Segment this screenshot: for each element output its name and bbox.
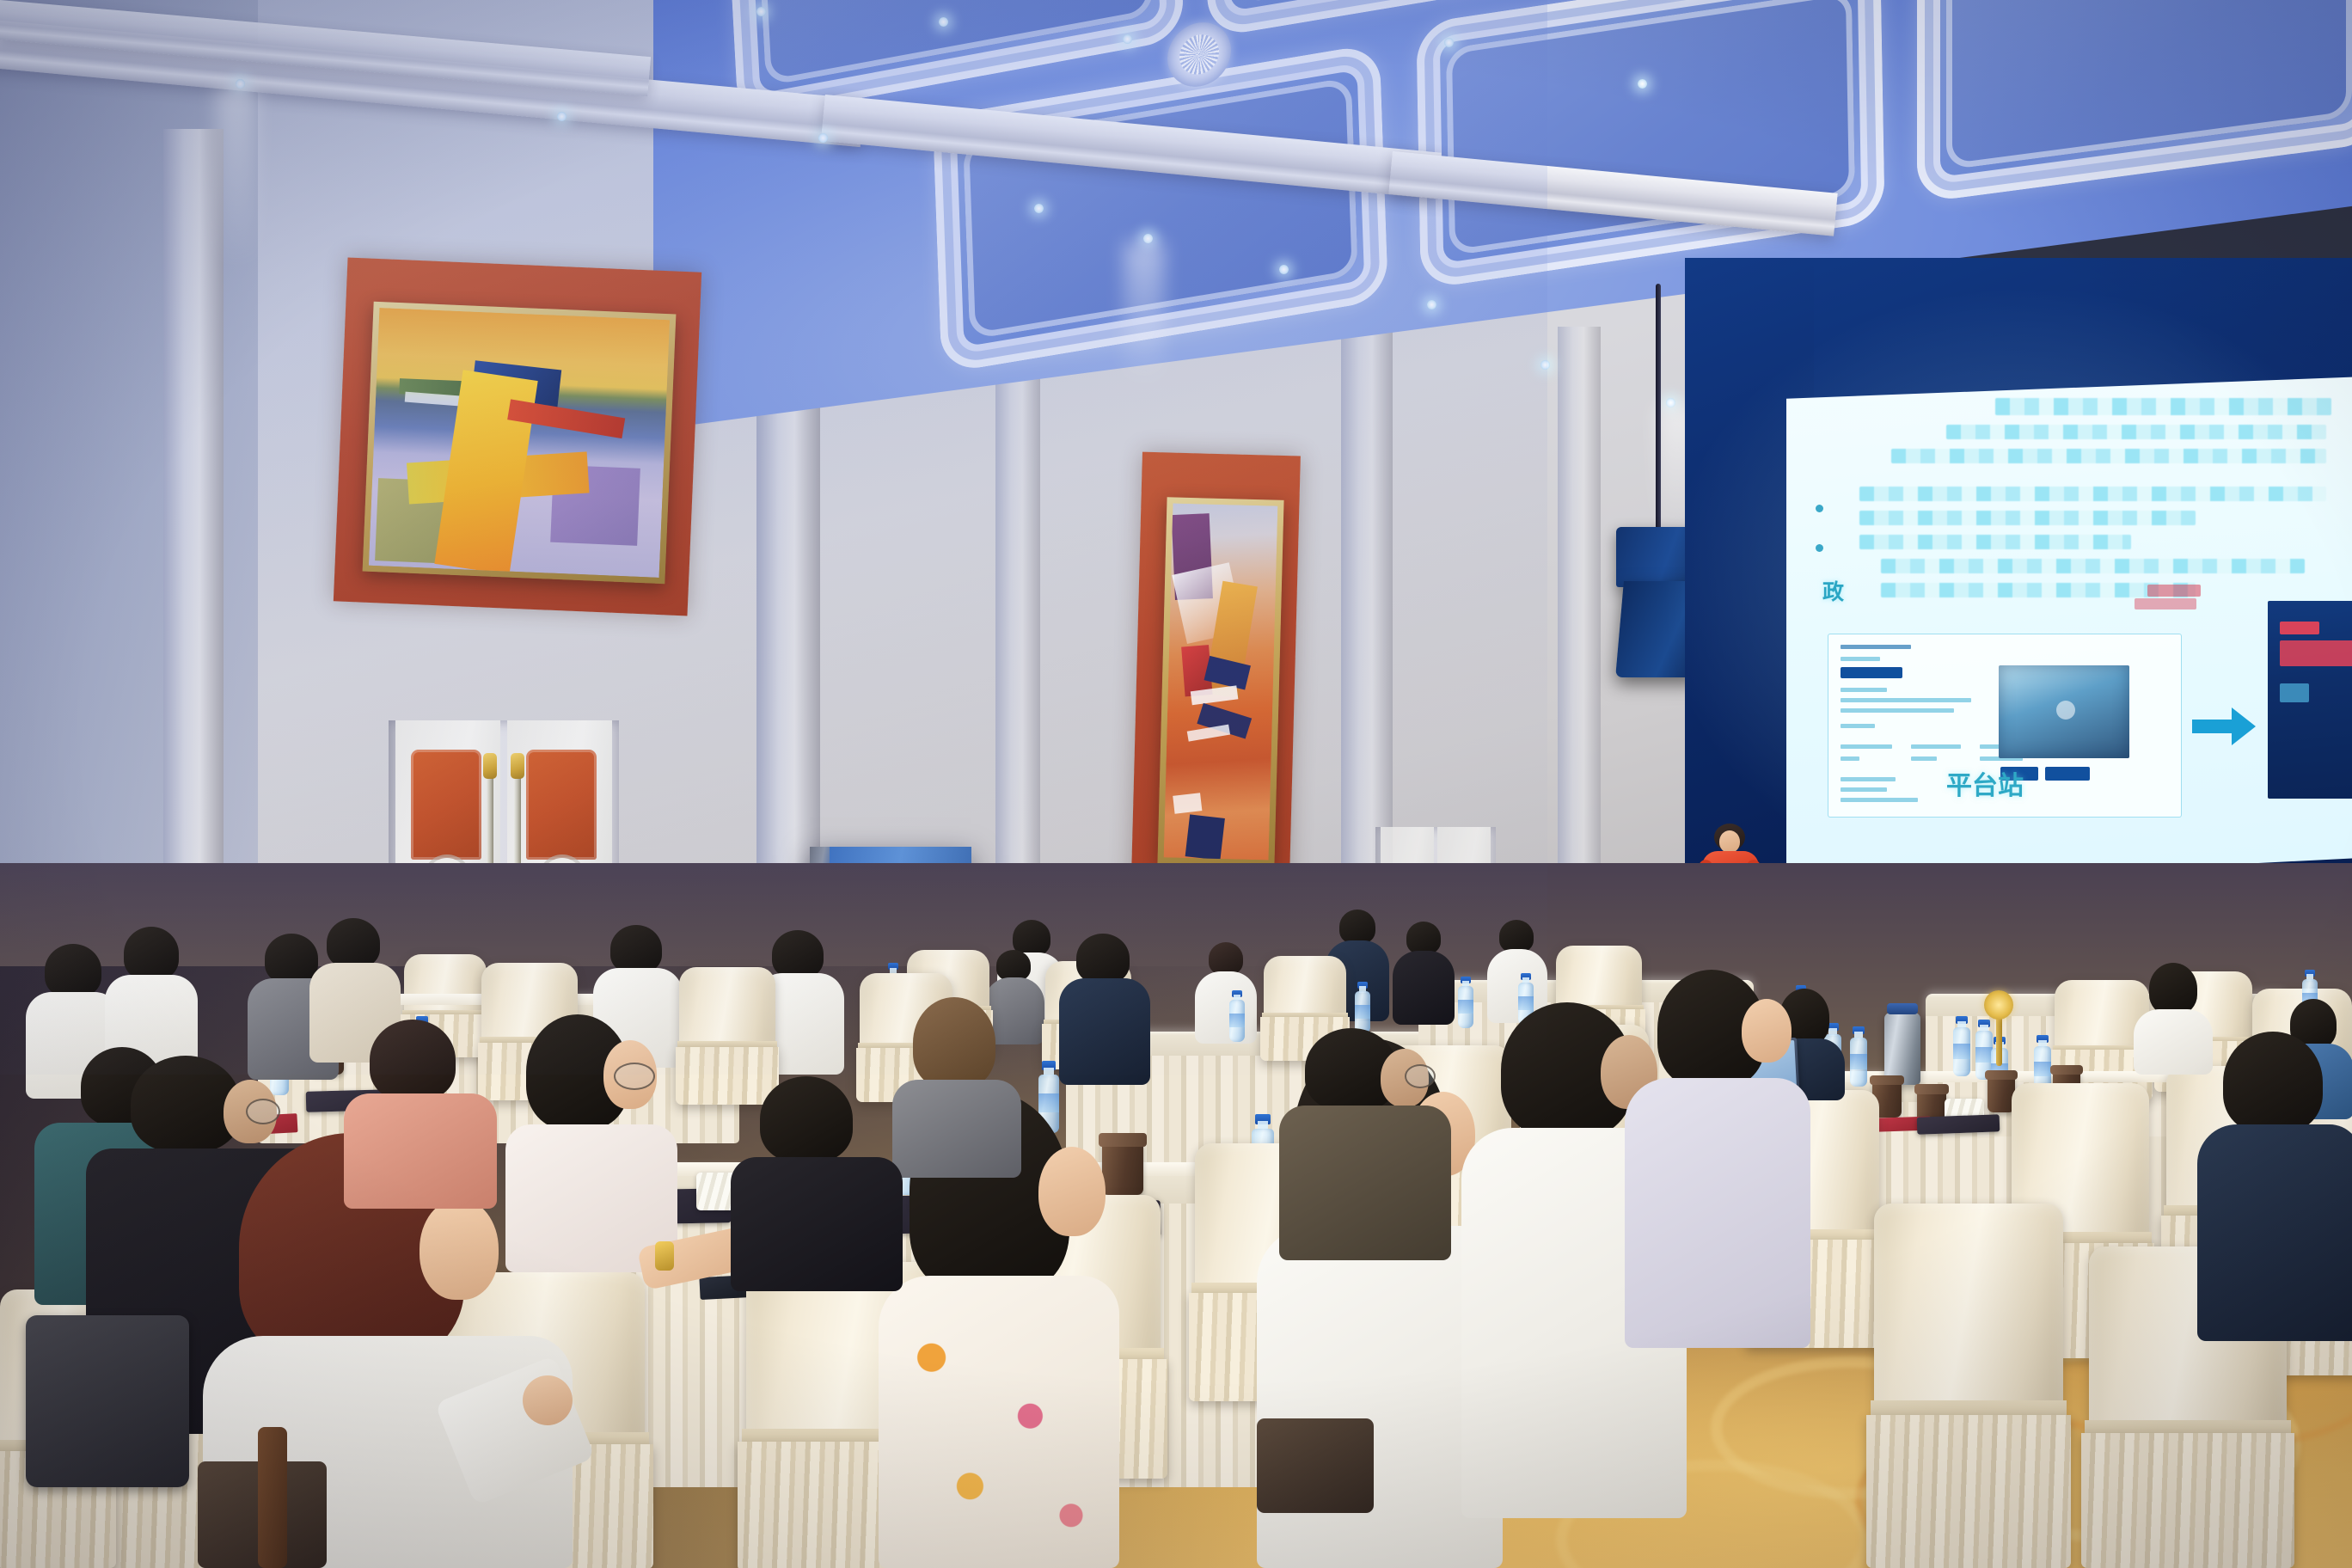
attendee (1393, 922, 1455, 1025)
door-inlay (526, 750, 597, 860)
attendee-pink-jacket (344, 1020, 497, 1209)
artwork-frame (363, 302, 677, 584)
coffer-inner-recess (754, 0, 1154, 86)
cornice-downlight (1540, 360, 1550, 370)
abstract-vertical-painting (1164, 503, 1278, 860)
water-bottle[interactable] (1355, 982, 1370, 1033)
banquet-chair[interactable] (1874, 1204, 2063, 1568)
cornice-downlight (1427, 300, 1436, 309)
play-icon (2056, 701, 2075, 720)
cornice-downlight (818, 133, 828, 143)
slide-mobile-mockup (2268, 601, 2352, 799)
slide-card-action-button (2045, 767, 2090, 781)
slide-bullet (1816, 505, 1823, 512)
attendee (2197, 1032, 2352, 1341)
attendee (1059, 934, 1150, 1085)
desk-pad (1917, 1114, 2000, 1134)
conference-hall-photo: 政 (0, 0, 2352, 1568)
slide-bullet (1816, 544, 1823, 552)
handbag[interactable] (1257, 1418, 1374, 1513)
presenter-face (1719, 830, 1740, 853)
door-handle-cap (483, 753, 497, 779)
table-number-disc (1984, 990, 2013, 1020)
attendee-lavender-blouse (1625, 970, 1810, 1348)
slide-highlight-chip (2147, 585, 2201, 597)
light-wash (1124, 242, 1164, 389)
attendee (1195, 942, 1257, 1044)
ceiling-downlight (939, 17, 948, 27)
slide-section-label: 政 (1822, 575, 1844, 606)
light-wash (217, 86, 256, 266)
ceiling-downlight (1123, 34, 1132, 44)
slide-card-button (1841, 667, 1902, 678)
slide-highlight-chip (2135, 598, 2196, 609)
cornice-downlight (1279, 265, 1289, 274)
abstract-landscape-painting (369, 308, 670, 578)
ceiling-coffer (1416, 0, 1884, 290)
slide-embedded-photo (1999, 665, 2129, 758)
right-arrow-icon (2192, 707, 2256, 750)
door-inlay (411, 750, 481, 860)
coffer-inner-recess (1946, 0, 2352, 170)
wooden-chair-frame[interactable] (258, 1427, 287, 1568)
artwork-frame (1157, 497, 1283, 866)
door-handle-cap (511, 753, 524, 779)
attendee-olive-vest (1279, 1028, 1451, 1260)
attendee-lightbrown-hair (892, 997, 1021, 1178)
ceiling-coffer (1917, 0, 2352, 203)
slide-content: 政 (1786, 376, 2352, 887)
ceiling-downlight (1444, 38, 1454, 47)
gold-bracelet (655, 1241, 674, 1271)
projection-screen: 政 (1786, 376, 2352, 887)
speaker-mount-pole (1656, 284, 1661, 533)
cornice-downlight (557, 112, 567, 121)
water-bottle[interactable] (1229, 990, 1245, 1042)
cornice-downlight (1034, 204, 1044, 213)
ceiling-downlight (756, 7, 766, 16)
backpack[interactable] (26, 1315, 189, 1487)
attendee-navy (731, 1076, 903, 1291)
ceiling-downlight (1638, 79, 1647, 89)
slide-caption: 平台站 (1946, 764, 2024, 802)
